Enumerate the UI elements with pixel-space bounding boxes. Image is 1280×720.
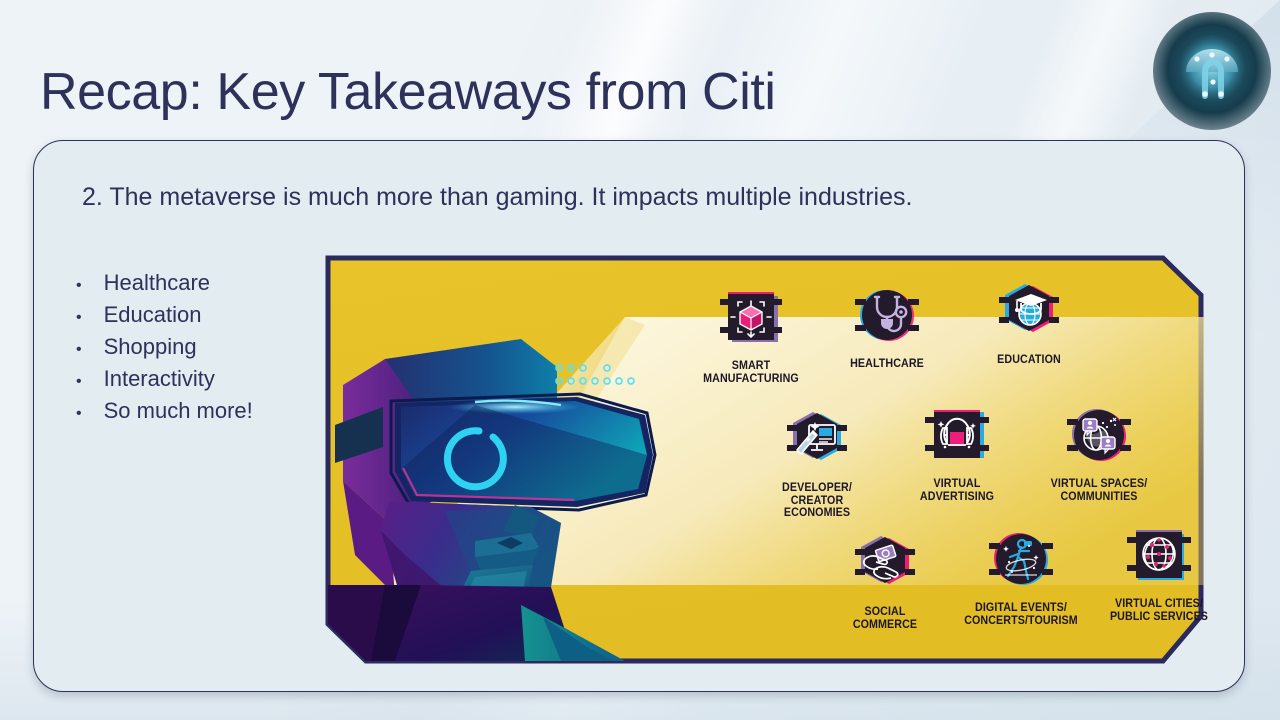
bullet-marker: • [76, 398, 82, 430]
list-item-label: Healthcare [104, 267, 210, 299]
card-subtitle: 2. The metaverse is much more than gamin… [82, 183, 912, 212]
page-title: Recap: Key Takeaways from Citi [40, 62, 776, 122]
bullet-marker: • [76, 302, 82, 334]
list-item: • Healthcare [76, 267, 253, 299]
list-item: • Interactivity [76, 363, 253, 395]
bullet-marker: • [76, 366, 82, 398]
list-item: • So much more! [76, 395, 253, 427]
metaverse-industries-graphic: SMART MANUFACTURING [325, 255, 1204, 664]
list-item: • Education [76, 299, 253, 331]
list-item-label: Education [104, 299, 202, 331]
bullet-marker: • [76, 270, 82, 302]
list-item-label: So much more! [104, 395, 253, 427]
list-item: • Shopping [76, 331, 253, 363]
jellyfish-logo [1153, 12, 1271, 130]
bullet-marker: • [76, 334, 82, 366]
bullet-list: • Healthcare • Education • Shopping • In… [76, 267, 253, 427]
list-item-label: Interactivity [104, 363, 215, 395]
content-card: 2. The metaverse is much more than gamin… [33, 140, 1245, 692]
list-item-label: Shopping [104, 331, 197, 363]
